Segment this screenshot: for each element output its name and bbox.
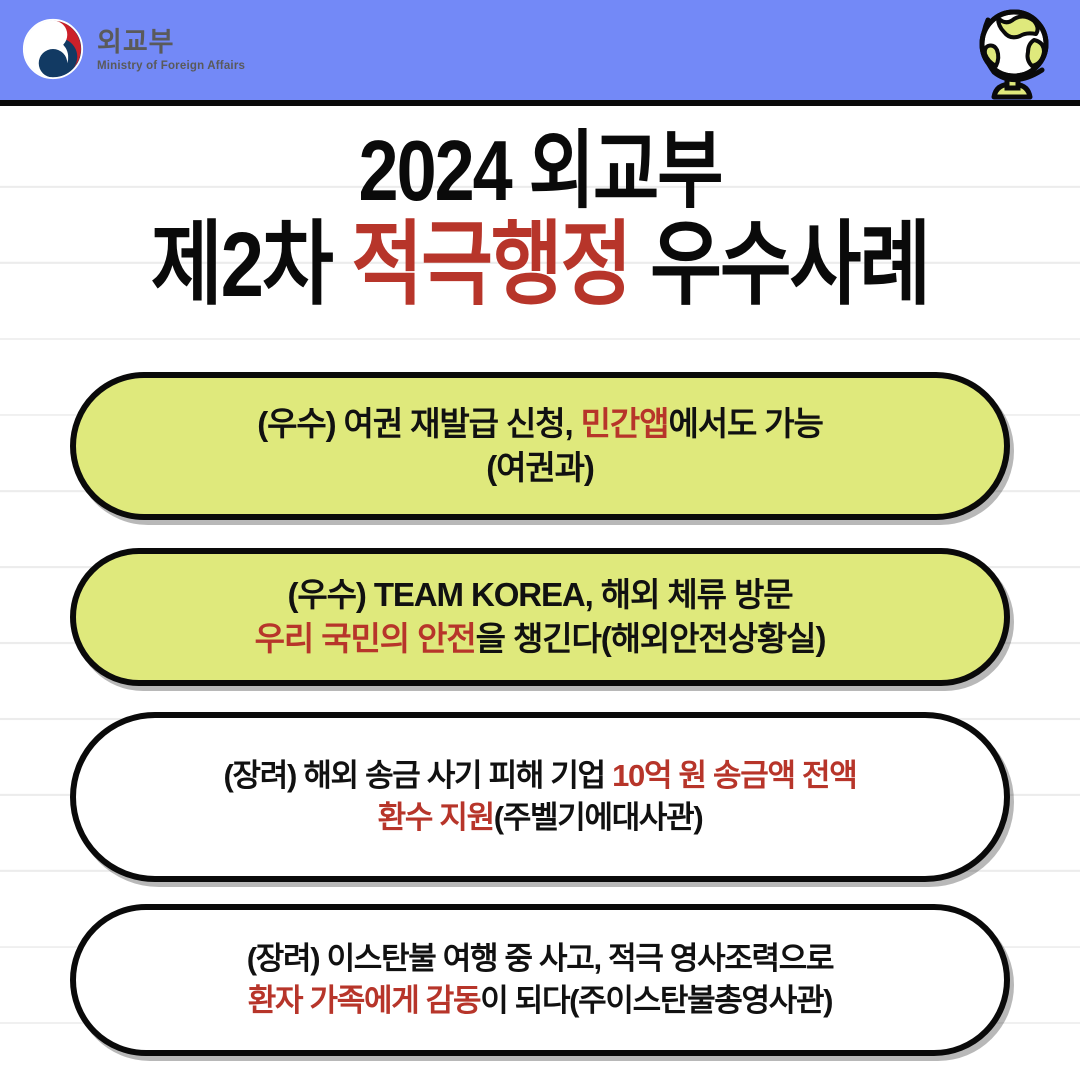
korea-government-taegeuk-emblem-icon [22, 18, 84, 80]
title-line-2-accent: 적극행정 [351, 212, 630, 316]
page-header: 외교부 Ministry of Foreign Affairs [0, 0, 1080, 106]
title-line-2-before: 제2차 [151, 212, 352, 316]
case-list: (우수) 여권 재발급 신청, 민간앱에서도 가능(여권과) (우수) TEAM… [70, 372, 1010, 1056]
desk-globe-icon [966, 2, 1058, 106]
ministry-brand-text: 외교부 Ministry of Foreign Affairs [97, 26, 245, 73]
ministry-brand: 외교부 Ministry of Foreign Affairs [22, 18, 245, 80]
title-line-1: 2024 외교부 [0, 128, 1080, 216]
case-card-2[interactable]: (우수) TEAM KOREA, 해외 체류 방문우리 국민의 안전을 챙긴다(… [70, 548, 1010, 686]
case-card-1[interactable]: (우수) 여권 재발급 신청, 민간앱에서도 가능(여권과) [70, 372, 1010, 520]
page-title: 2024 외교부 제2차 적극행정 우수사례 [0, 128, 1080, 298]
poster-page: 외교부 Ministry of Foreign Affairs 2024 외교부… [0, 0, 1080, 1080]
case-card-4-text: (장려) 이스탄불 여행 중 사고, 적극 영사조력으로환자 가족에게 감동이 … [247, 938, 833, 1021]
ministry-name-en: Ministry of Foreign Affairs [97, 61, 245, 73]
case-card-4[interactable]: (장려) 이스탄불 여행 중 사고, 적극 영사조력으로환자 가족에게 감동이 … [70, 904, 1010, 1056]
case-card-3[interactable]: (장려) 해외 송금 사기 피해 기업 10억 원 송금액 전액환수 지원(주벨… [70, 712, 1010, 882]
case-card-1-text: (우수) 여권 재발급 신청, 민간앱에서도 가능(여권과) [257, 402, 823, 490]
title-line-2: 제2차 적극행정 우수사례 [0, 217, 1080, 313]
ministry-name-ko: 외교부 [97, 28, 245, 57]
case-card-3-text: (장려) 해외 송금 사기 피해 기업 10억 원 송금액 전액환수 지원(주벨… [224, 755, 857, 838]
title-line-2-after: 우수사례 [630, 212, 929, 316]
case-card-2-text: (우수) TEAM KOREA, 해외 체류 방문우리 국민의 안전을 챙긴다(… [255, 573, 826, 661]
